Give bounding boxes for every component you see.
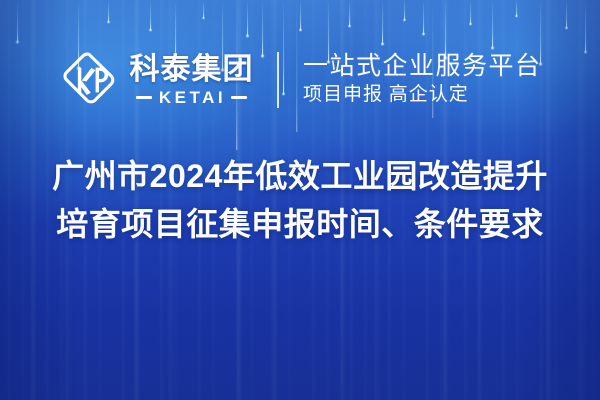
ketai-diamond-kp-logo-icon — [58, 49, 120, 111]
brand-name-cn: 科泰集团 — [129, 54, 253, 86]
brand-name-en: KETAI — [157, 89, 226, 106]
title-line-2: 培育项目征集申报时间、条件要求 — [0, 200, 600, 248]
slogan-block: 一站式企业服务平台 项目申报 高企认定 — [303, 52, 542, 108]
promo-banner: 科泰集团 KETAI 一站式企业服务平台 项目申报 高企认定 广州市2024年低… — [0, 0, 600, 400]
slogan-main: 一站式企业服务平台 — [303, 52, 542, 82]
brand-logotype: 科泰集团 KETAI — [129, 54, 253, 106]
logo-dash-left-icon — [136, 96, 152, 99]
banner-header: 科泰集团 KETAI 一站式企业服务平台 项目申报 高企认定 — [0, 40, 600, 120]
banner-title: 广州市2024年低效工业园改造提升 培育项目征集申报时间、条件要求 — [0, 152, 600, 248]
header-divider — [277, 52, 279, 108]
brand-logo[interactable]: 科泰集团 KETAI — [58, 49, 253, 111]
logo-dash-right-icon — [231, 96, 247, 99]
slogan-sub: 项目申报 高企认定 — [303, 83, 542, 108]
title-line-1: 广州市2024年低效工业园改造提升 — [0, 152, 600, 200]
brand-name-en-row: KETAI — [136, 89, 247, 106]
